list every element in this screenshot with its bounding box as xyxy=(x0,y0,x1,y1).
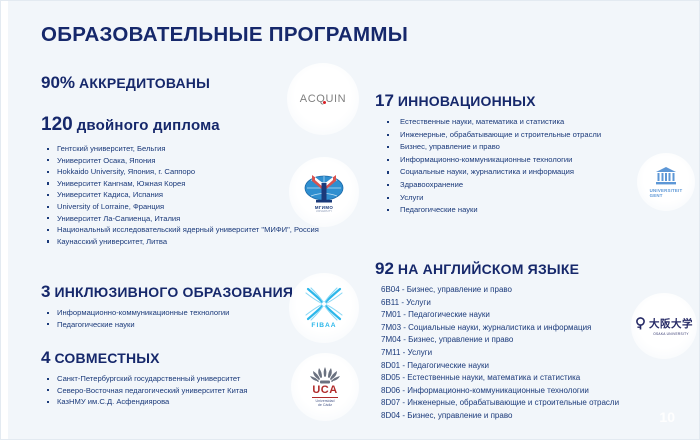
innovative-list: Естественные науки, математика и статист… xyxy=(379,116,601,217)
osaka-mark-icon xyxy=(635,317,646,330)
list-item: Гентский университет, Бельгия xyxy=(45,143,319,155)
joint-list: Санкт-Петербургский государственный унив… xyxy=(45,373,248,408)
uca-logo-text: UCA xyxy=(312,385,337,396)
uca-crown-icon xyxy=(309,367,341,385)
list-item: 8D06 - Информационно-коммуникационные те… xyxy=(381,385,619,398)
accredited-label: АККРЕДИТОВАНЫ xyxy=(79,75,210,91)
list-item: Hokkaido University, Япония, г. Саппоро xyxy=(45,166,319,178)
page-number: 10 xyxy=(659,409,675,425)
innovative-number: 17 xyxy=(375,91,394,110)
osaka-logo-row: 大阪大学 xyxy=(635,316,693,331)
list-item: 7М04 - Бизнес, управление и право xyxy=(381,334,619,347)
list-item: University of Lorraine, Франция xyxy=(45,201,319,213)
list-item: Педагогические науки xyxy=(45,319,229,331)
list-item: Национальный исследовательский ядерный у… xyxy=(45,224,319,236)
list-item: Здравоохранение xyxy=(379,179,601,192)
section-heading-joint: 4СОВМЕСТНЫХ xyxy=(41,348,160,368)
list-item: Педагогические науки xyxy=(379,204,601,217)
list-item: 6В11 - Услуги xyxy=(381,297,619,310)
acquin-text-a: ACQ xyxy=(300,93,326,105)
osaka-logo-subtext: OSAKA UNIVERSITY xyxy=(653,332,689,336)
list-item: Университет Осака, Япония xyxy=(45,155,319,167)
gent-building-icon xyxy=(655,166,677,186)
inclusive-list: Информационно-коммуникационные технологи… xyxy=(45,307,229,330)
double-degree-number: 120 xyxy=(41,114,73,135)
fibaa-logo-text: FIBAA xyxy=(311,322,336,329)
list-item: Университет Ла-Сапиенца, Италия xyxy=(45,213,319,225)
list-item: Естественные науки, математика и статист… xyxy=(379,116,601,129)
inclusive-label: ИНКЛЮЗИВНОГО ОБРАЗОВАНИЯ xyxy=(54,284,293,300)
double-degree-list: Гентский университет, БельгияУниверситет… xyxy=(45,143,319,247)
acquin-logo-text: ACQUIN xyxy=(300,93,346,105)
list-item: 6В04 - Бизнес, управление и право xyxy=(381,284,619,297)
gent-logo-text: UNIVERSITEIT GENT xyxy=(650,188,683,198)
list-item: КазНМУ им.С.Д. Асфендиярова xyxy=(45,396,248,408)
uca-logo-subtext: Universidad de Cádiz xyxy=(316,399,335,408)
list-item: Северо-Восточная педагогический универси… xyxy=(45,385,248,397)
acquin-logo: ACQUIN xyxy=(287,63,359,135)
list-item: Бизнес, управление и право xyxy=(379,141,601,154)
section-heading-double-degree: 120двойного диплома xyxy=(41,114,220,136)
list-item: 8D04 - Бизнес, управление и право xyxy=(381,410,619,423)
double-degree-label: двойного диплома xyxy=(77,117,220,134)
list-item: Каунасский университет, Литва xyxy=(45,236,319,248)
list-item: 7М11 - Услуги xyxy=(381,347,619,360)
acquin-text-b: UIN xyxy=(325,93,346,105)
section-heading-inclusive: 3ИНКЛЮЗИВНОГО ОБРАЗОВАНИЯ xyxy=(41,282,293,302)
page-title: ОБРАЗОВАТЕЛЬНЫЕ ПРОГРАММЫ xyxy=(41,23,408,47)
fibaa-logo: FIBAA xyxy=(289,273,359,343)
mgimo-logo: МГИМО UNIVERSITY xyxy=(289,157,359,227)
mgimo-emblem-icon xyxy=(304,172,344,206)
list-item: Инженерные, обрабатывающие и строительны… xyxy=(379,129,601,142)
inclusive-number: 3 xyxy=(41,282,50,301)
uca-logo-rule xyxy=(312,397,338,398)
osaka-university-logo: 大阪大学 OSAKA UNIVERSITY xyxy=(631,293,697,359)
slide-root: ОБРАЗОВАТЕЛЬНЫЕ ПРОГРАММЫ 90%АККРЕДИТОВА… xyxy=(0,0,700,440)
list-item: 7М03 - Социальные науки, журналистика и … xyxy=(381,322,619,335)
innovative-label: ИННОВАЦИОННЫХ xyxy=(398,93,536,109)
english-number: 92 xyxy=(375,259,394,278)
list-item: Санкт-Петербургский государственный унив… xyxy=(45,373,248,385)
section-heading-accredited: 90%АККРЕДИТОВАНЫ xyxy=(41,73,210,93)
osaka-logo-kanji: 大阪大学 xyxy=(649,316,693,331)
list-item: Информационно-коммуникационные технологи… xyxy=(45,307,229,319)
list-item: 7М01 - Педагогические науки xyxy=(381,309,619,322)
list-item: Университет Кангнам, Южная Корея xyxy=(45,178,319,190)
section-heading-english: 92НА АНГЛИЙСКОМ ЯЗЫКЕ xyxy=(375,259,579,279)
list-item: 8D01 - Педагогические науки xyxy=(381,360,619,373)
list-item: 8D07 - Инженерные, обрабатывающие и стро… xyxy=(381,397,619,410)
english-label: НА АНГЛИЙСКОМ ЯЗЫКЕ xyxy=(398,261,579,277)
list-item: 8D05 - Естественные науки, математика и … xyxy=(381,372,619,385)
list-item: Университет Кадиса, Испания xyxy=(45,189,319,201)
gent-logo-line2: GENT xyxy=(650,193,683,198)
uca-logo: UCA Universidad de Cádiz xyxy=(291,353,359,421)
list-item: Информационно-коммуникационные технологи… xyxy=(379,154,601,167)
english-list: 6В04 - Бизнес, управление и право6В11 - … xyxy=(381,284,619,423)
accredited-number: 90% xyxy=(41,73,75,92)
universiteit-gent-logo: UNIVERSITEIT GENT xyxy=(637,153,695,211)
mgimo-logo-subtext: UNIVERSITY xyxy=(316,210,332,213)
section-heading-innovative: 17ИННОВАЦИОННЫХ xyxy=(375,91,536,111)
joint-label: СОВМЕСТНЫХ xyxy=(54,350,159,366)
joint-number: 4 xyxy=(41,348,50,367)
fibaa-x-icon xyxy=(305,287,343,321)
list-item: Услуги xyxy=(379,192,601,205)
list-item: Социальные науки, журналистика и информа… xyxy=(379,166,601,179)
uca-logo-sub2: de Cádiz xyxy=(316,403,335,407)
